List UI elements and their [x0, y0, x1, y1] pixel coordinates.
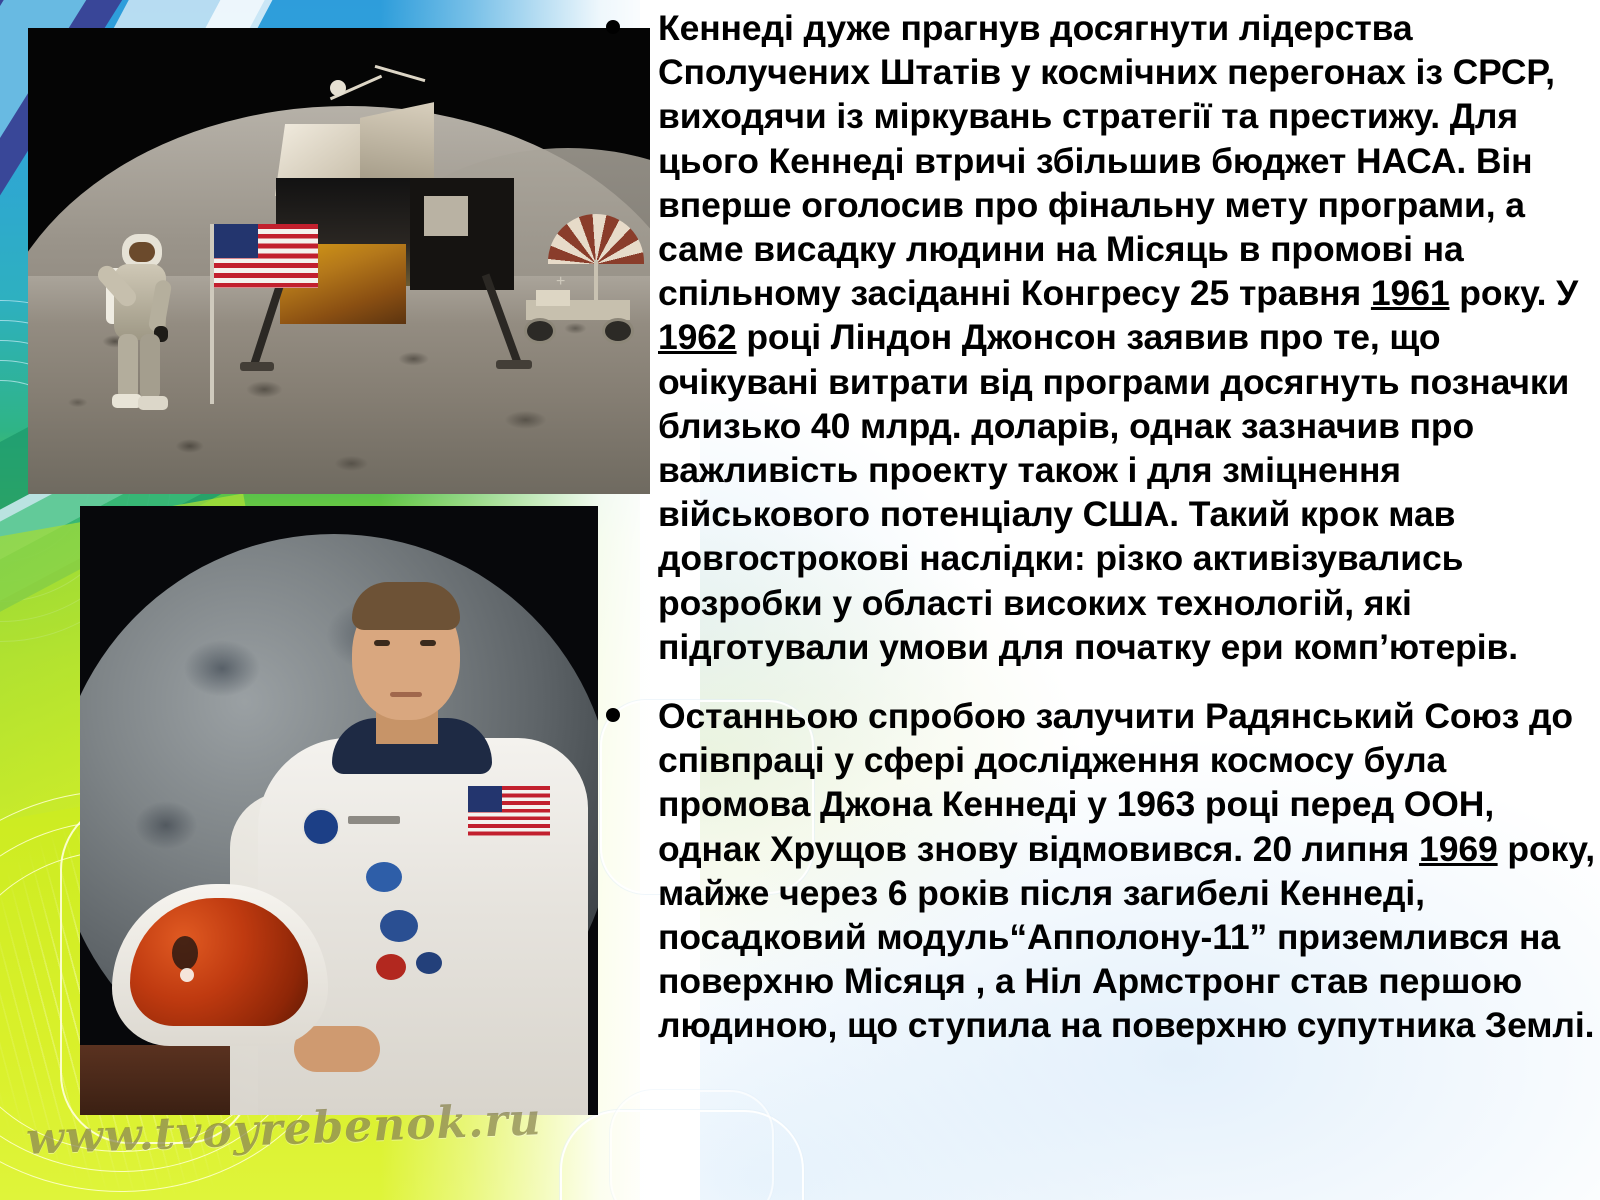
astronaut-hand: [294, 1026, 380, 1072]
saluting-astronaut: [106, 234, 174, 416]
suit-connector: [416, 952, 442, 974]
text-run: року. У: [1449, 273, 1578, 313]
text-run: Кеннеді дуже прагнув досягнути лідерства…: [658, 8, 1555, 313]
slide: + + + +: [0, 0, 1600, 1200]
astronaut-hair: [352, 582, 460, 630]
lander-footpad: [240, 362, 274, 371]
nasa-meatball-patch-icon: [302, 808, 340, 846]
lunar-module-plaque: [424, 196, 468, 236]
bullet-dot-icon: [606, 20, 620, 34]
lander-footpad: [496, 360, 532, 369]
bullet-paragraph-1: Кеннеді дуже прагнув досягнути лідерства…: [606, 6, 1600, 669]
visor-highlight: [180, 968, 194, 982]
astronaut-mouth: [390, 692, 422, 697]
bullet-dot-icon: [606, 708, 620, 722]
suit-connector: [366, 862, 402, 892]
us-flag-patch-canton: [468, 786, 502, 812]
astronaut-eye: [420, 640, 436, 646]
neil-armstrong-portrait-photo: [80, 506, 598, 1115]
suit-connector: [380, 910, 418, 942]
reseau-cross-icon: +: [556, 274, 565, 290]
paragraph-1-text: Кеннеді дуже прагнув досягнути лідерства…: [658, 6, 1600, 669]
name-tag: [348, 816, 400, 824]
astronaut-boot: [138, 396, 168, 410]
suit-connector: [376, 954, 406, 980]
astronaut-visor: [129, 242, 155, 262]
highlighted-year: 1962: [658, 317, 737, 357]
rover-wheel: [524, 318, 556, 344]
text-run: році Ліндон Джонсон заявив про те, що оч…: [658, 317, 1569, 666]
bullet-spacer: [620, 694, 658, 1048]
text-column: Кеннеді дуже прагнув досягнути лідерства…: [600, 0, 1600, 1200]
highlighted-year: 1969: [1419, 829, 1498, 869]
paragraph-2-text: Останньою спробою залучити Радянський Со…: [658, 694, 1600, 1048]
highlighted-year: 1961: [1371, 273, 1450, 313]
rover-seat: [536, 290, 570, 306]
astronaut-eye: [374, 640, 390, 646]
bullet-spacer: [620, 6, 658, 669]
astronaut-leg: [140, 334, 160, 400]
apollo-moon-landing-photo: + + + +: [28, 28, 650, 494]
visor-reflection: [172, 936, 198, 970]
astronaut-leg: [118, 334, 138, 400]
lander-antenna-dish: [330, 80, 346, 96]
bullet-paragraph-2: Останньою спробою залучити Радянський Со…: [606, 694, 1600, 1048]
us-flag-canton: [214, 224, 258, 258]
